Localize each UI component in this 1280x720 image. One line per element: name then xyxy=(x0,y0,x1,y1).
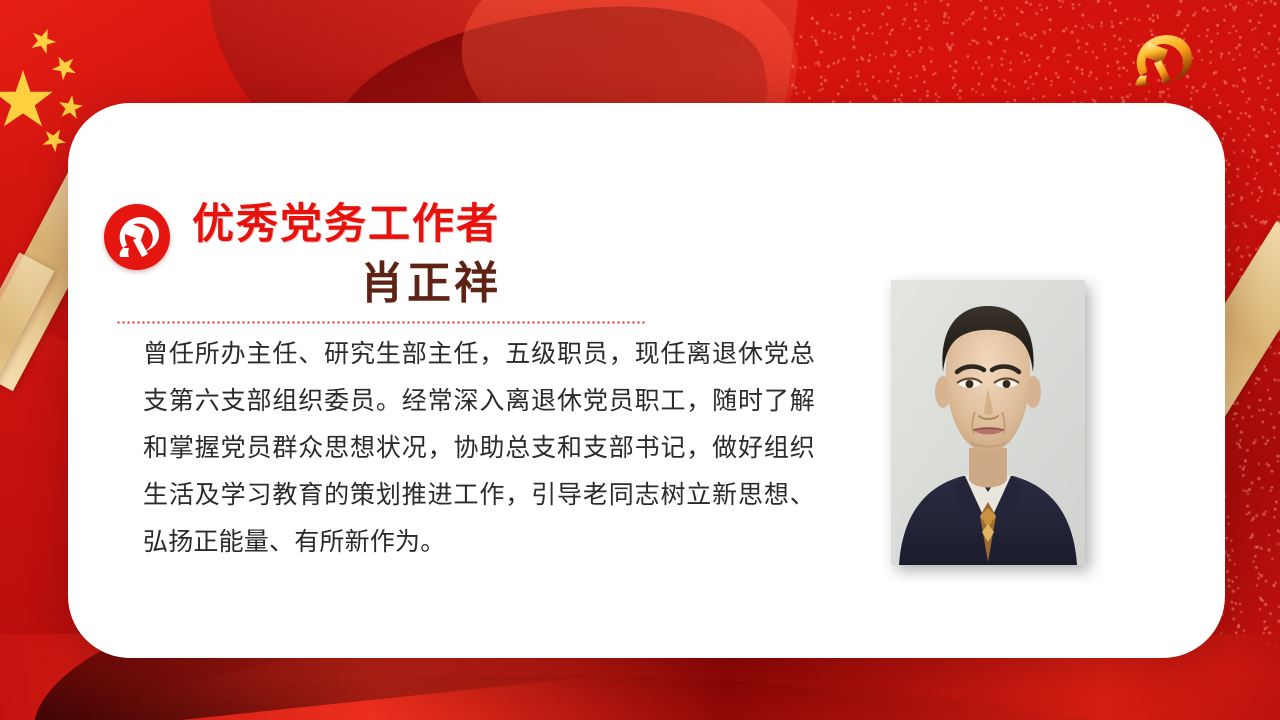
person-name: 肖正祥 xyxy=(360,262,501,306)
portrait-photo xyxy=(891,280,1085,565)
dotted-divider xyxy=(116,321,646,324)
biography-paragraph: 曾任所办主任、研究生部主任，五级职员，现任离退休党总支第六支部组织委员。经常深入… xyxy=(143,331,815,566)
biography-text: 曾任所办主任、研究生部主任，五级职员，现任离退休党总支第六支部组织委员。经常深入… xyxy=(143,331,815,566)
party-emblem-gold-hammer-sickle-icon xyxy=(1118,24,1204,96)
party-emblem-hammer-sickle-icon xyxy=(104,204,170,270)
page-title: 优秀党务工作者 xyxy=(192,204,500,246)
